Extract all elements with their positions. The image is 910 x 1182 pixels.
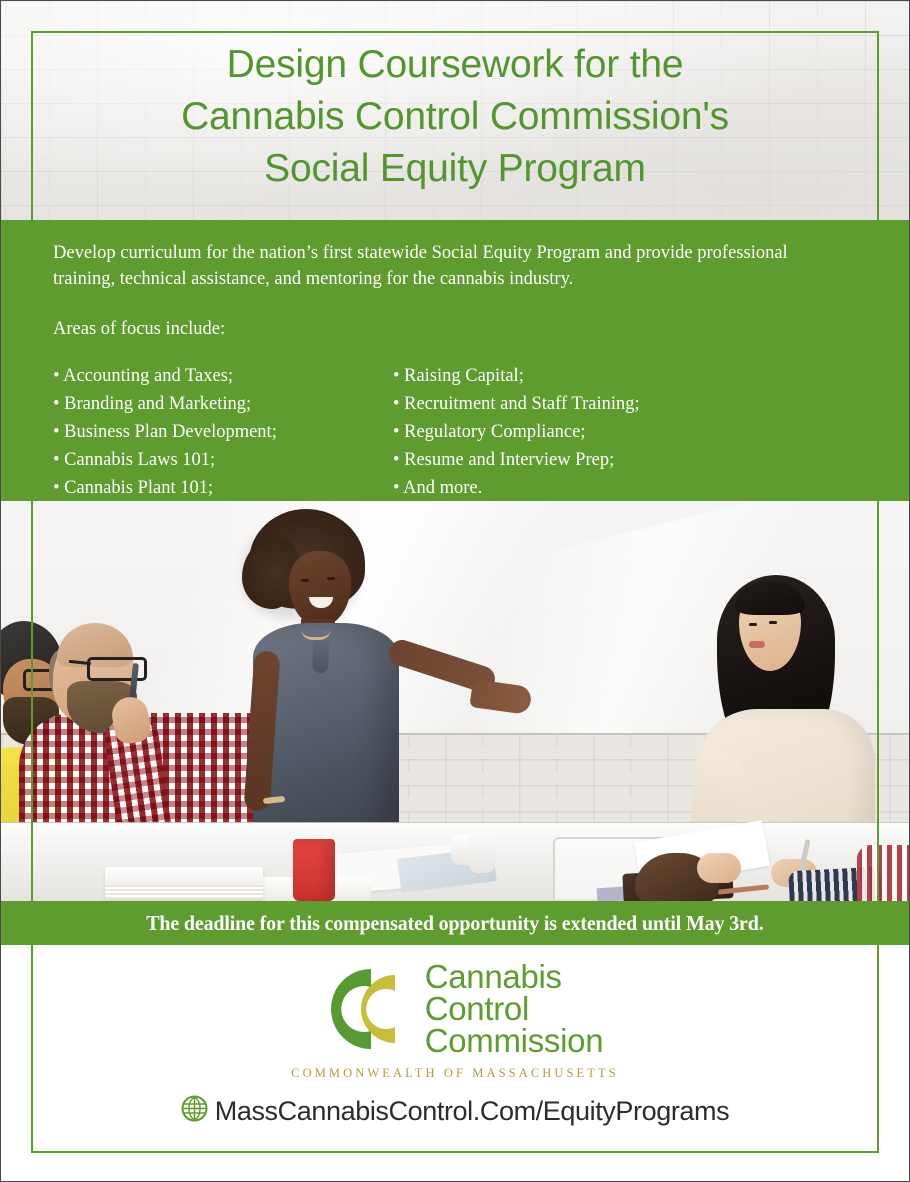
person-right-eye-right xyxy=(769,621,777,624)
photo-white-jar xyxy=(469,833,495,873)
list-item: • Business Plan Development; xyxy=(53,418,393,446)
list-item: • Resume and Interview Prep; xyxy=(393,446,733,474)
person-right-hand-left xyxy=(697,853,741,883)
photo-red-cup xyxy=(293,839,335,901)
lead-paragraph: Develop curriculum for the nation’s firs… xyxy=(53,240,853,292)
website-row[interactable]: MassCannabisControl.Com/EquityPrograms xyxy=(1,1095,909,1127)
green-content-band: Develop curriculum for the nation’s firs… xyxy=(1,220,909,501)
presenter-eye-left xyxy=(301,579,309,582)
website-url[interactable]: MassCannabisControl.Com/EquityPrograms xyxy=(215,1096,730,1127)
list-item: • Accounting and Taxes; xyxy=(53,362,393,390)
list-item: • Recruitment and Staff Training; xyxy=(393,390,733,418)
logo-row: Cannabis Control Commission xyxy=(307,961,604,1057)
focus-areas-columns: • Accounting and Taxes; • Branding and M… xyxy=(53,362,861,502)
list-item: • And more. xyxy=(393,474,733,502)
focus-areas-label: Areas of focus include: xyxy=(53,316,861,342)
list-item: • Raising Capital; xyxy=(393,362,733,390)
deadline-banner: The deadline for this compensated opport… xyxy=(1,901,909,945)
deadline-text: The deadline for this compensated opport… xyxy=(146,911,763,936)
person-right-eye-left xyxy=(749,623,757,626)
list-item: • Branding and Marketing; xyxy=(53,390,393,418)
focus-column-right: • Raising Capital; • Recruitment and Sta… xyxy=(393,362,733,502)
title-frame: Design Coursework for the Cannabis Contr… xyxy=(31,31,879,220)
logo-subtitle: COMMONWEALTH OF MASSACHUSETTS xyxy=(291,1066,619,1081)
hero-section: Design Coursework for the Cannabis Contr… xyxy=(1,1,909,220)
page-title: Design Coursework for the Cannabis Contr… xyxy=(181,33,729,195)
frame-line-right xyxy=(877,220,879,903)
presenter-eye-right xyxy=(327,577,335,580)
footer-section: Cannabis Control Commission COMMONWEALTH… xyxy=(1,945,909,1181)
logo-line-2: Control xyxy=(425,993,604,1025)
list-item: • Cannabis Plant 101; xyxy=(53,474,393,502)
cannabis-control-commission-logo-icon xyxy=(307,961,411,1057)
photo-notebook-pages xyxy=(105,885,263,899)
focus-column-left: • Accounting and Taxes; • Branding and M… xyxy=(53,362,393,502)
list-item: • Regulatory Compliance; xyxy=(393,418,733,446)
flyer-page: Design Coursework for the Cannabis Contr… xyxy=(0,0,910,1182)
person-right-lips xyxy=(749,641,765,648)
list-item: • Cannabis Laws 101; xyxy=(53,446,393,474)
logo-block: Cannabis Control Commission COMMONWEALTH… xyxy=(1,961,909,1081)
logo-wordmark: Cannabis Control Commission xyxy=(425,961,604,1057)
globe-icon xyxy=(181,1095,208,1127)
logo-line-3: Commission xyxy=(425,1025,604,1057)
logo-line-1: Cannabis xyxy=(425,961,604,993)
meeting-photo xyxy=(1,501,909,901)
photo-plaid-fabric-right xyxy=(857,845,909,901)
frame-line-left xyxy=(31,220,33,903)
